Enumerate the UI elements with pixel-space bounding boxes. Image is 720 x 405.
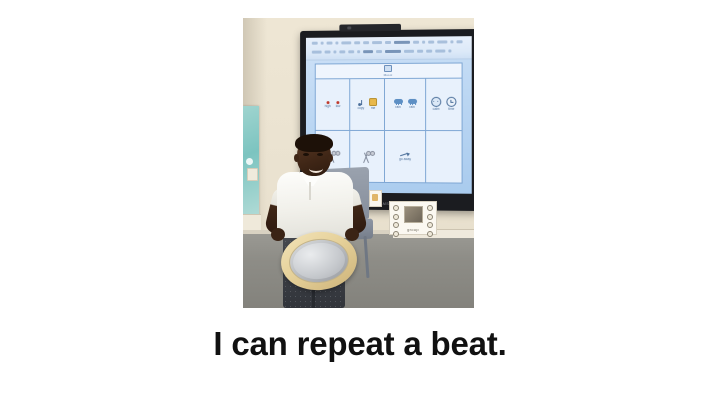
symbol-time: time xyxy=(446,97,456,111)
symbol-rain-1: rain xyxy=(394,99,403,109)
child-ear xyxy=(294,154,299,162)
symbol-calm: calm xyxy=(431,97,441,111)
shirt-placket xyxy=(309,182,311,200)
book-icon xyxy=(384,65,392,72)
child-smile xyxy=(309,164,323,173)
clock-icon xyxy=(446,97,456,107)
slide-canvas: Music high xyxy=(0,0,720,405)
symbol-label: go away xyxy=(399,158,411,161)
symbol-label: low xyxy=(336,105,341,108)
board-header: Music xyxy=(316,63,462,79)
symbol-card-icon xyxy=(369,190,382,207)
symbol-label: rain xyxy=(395,106,400,109)
symbol-label: calm xyxy=(433,108,440,111)
symbol-label: copy xyxy=(358,107,365,110)
face-icon xyxy=(431,97,441,107)
whiteboard-camera-bar xyxy=(339,24,401,32)
ribbon-row-bottom xyxy=(312,49,466,53)
symbol-label: time xyxy=(448,108,454,111)
cloud-rain-icon xyxy=(408,99,417,105)
page-caption: I can repeat a beat. xyxy=(0,326,720,362)
teal-display-board xyxy=(243,106,259,226)
grid-cell-calm-time[interactable]: calm time xyxy=(426,79,462,131)
child-figure xyxy=(261,136,369,308)
text-icon xyxy=(358,100,363,106)
group-wall-card: group xyxy=(389,201,437,235)
app-ribbon-toolbar xyxy=(306,36,472,60)
symbol-copy: copy xyxy=(358,100,365,110)
grid-cell-rain[interactable]: rain rain xyxy=(385,79,426,131)
symbol-high: high xyxy=(325,101,331,108)
child-eye xyxy=(317,153,323,156)
group-card-label: group xyxy=(390,227,436,232)
symbol-low: low xyxy=(336,101,341,108)
symbol-label: high xyxy=(325,105,331,108)
child-hair xyxy=(295,134,333,152)
hand-icon xyxy=(369,98,377,106)
grid-cell-copy-me[interactable]: copy me xyxy=(350,79,385,131)
child-ear xyxy=(328,154,333,162)
symbol-rain-2: rain xyxy=(408,99,417,109)
child-eye xyxy=(303,153,309,156)
ribbon-row-top xyxy=(312,40,466,44)
symbol-label: me xyxy=(371,107,375,110)
board-title: Music xyxy=(384,73,393,77)
symbol-label: rain xyxy=(409,106,414,109)
grid-cell-go-away[interactable]: go away xyxy=(385,131,426,183)
cloud-rain-icon xyxy=(394,99,403,105)
symbol-me: me xyxy=(369,98,377,110)
symbol-go-away: go away xyxy=(399,152,411,161)
grid-cell-high-low[interactable]: high low xyxy=(316,79,351,131)
grid-cell-empty[interactable] xyxy=(426,131,462,184)
arrow-icon xyxy=(400,152,410,157)
photo-icon xyxy=(404,206,423,223)
wall-socket xyxy=(247,168,258,181)
tambourine xyxy=(278,228,360,294)
classroom-photo: Music high xyxy=(243,18,474,308)
